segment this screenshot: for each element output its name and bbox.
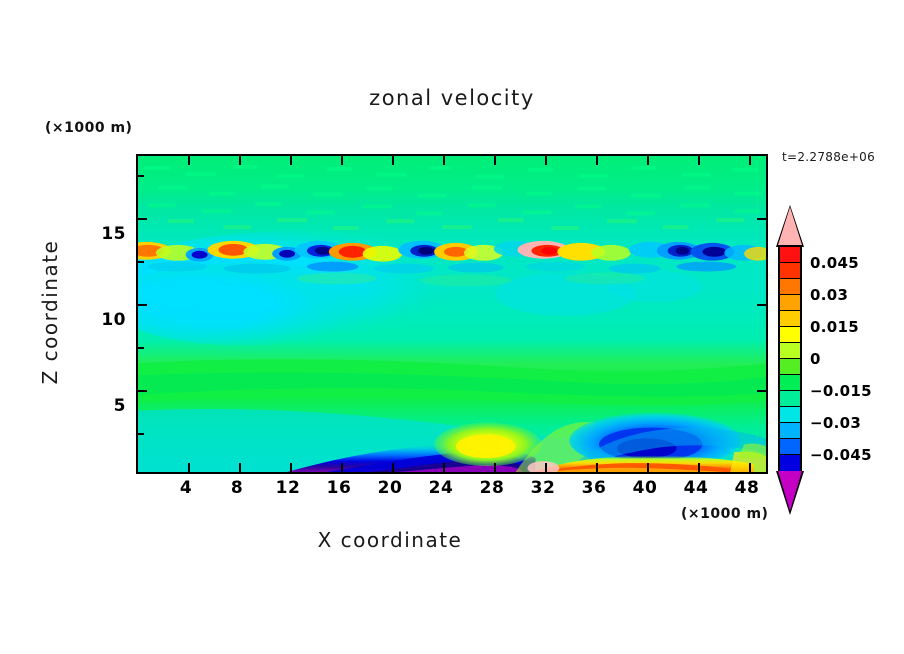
colorbar-segment xyxy=(780,423,800,439)
x-tick-top xyxy=(443,156,445,165)
x-axis-title: X coordinate xyxy=(0,528,780,552)
x-tick xyxy=(749,463,751,472)
colorbar-tick-label: 0.015 xyxy=(810,318,859,336)
colorbar-tick-label: −0.045 xyxy=(810,446,872,464)
x-tick-top xyxy=(392,156,394,165)
contour-plot-area[interactable] xyxy=(136,154,768,474)
colorbar-under-arrow xyxy=(778,471,802,511)
colorbar-segment xyxy=(780,295,800,311)
x-tick-label: 32 xyxy=(531,478,556,498)
zonal-velocity-field xyxy=(138,156,766,472)
y-tick-label: 5 xyxy=(92,396,126,416)
y-tick xyxy=(138,218,147,220)
page-title: zonal velocity xyxy=(0,86,904,110)
y-tick-minor xyxy=(138,261,144,263)
colorbar-segment xyxy=(780,375,800,391)
y-tick-right xyxy=(757,218,766,220)
colorbar-over-arrow xyxy=(778,207,802,245)
colorbar[interactable] xyxy=(778,245,802,473)
colorbar-tick-label: 0.045 xyxy=(810,254,859,272)
x-tick-top xyxy=(647,156,649,165)
x-tick-label: 28 xyxy=(480,478,505,498)
x-tick-top xyxy=(239,156,241,165)
colorbar-segment xyxy=(780,311,800,327)
colorbar-segment xyxy=(780,327,800,343)
x-tick xyxy=(392,463,394,472)
x-tick-label: 4 xyxy=(180,478,192,498)
x-axis-unit-label: (×1000 m) xyxy=(681,506,768,522)
colorbar-segment xyxy=(780,439,800,455)
x-tick-top xyxy=(341,156,343,165)
colorbar-segment xyxy=(780,279,800,295)
x-tick xyxy=(290,463,292,472)
colorbar-segment xyxy=(780,391,800,407)
x-tick-top xyxy=(545,156,547,165)
x-tick xyxy=(596,463,598,472)
x-tick-top xyxy=(749,156,751,165)
x-tick-label: 40 xyxy=(633,478,658,498)
x-tick xyxy=(545,463,547,472)
x-tick-label: 20 xyxy=(378,478,403,498)
x-tick-label: 24 xyxy=(429,478,454,498)
x-tick-label: 48 xyxy=(735,478,760,498)
x-tick-label: 44 xyxy=(684,478,709,498)
y-tick-label: 10 xyxy=(92,310,126,330)
colorbar-segment xyxy=(780,455,800,471)
y-tick-label: 15 xyxy=(92,224,126,244)
colorbar-segment xyxy=(780,359,800,375)
x-tick-top xyxy=(188,156,190,165)
y-tick xyxy=(138,304,147,306)
x-tick xyxy=(239,463,241,472)
x-tick-top xyxy=(290,156,292,165)
x-tick-top xyxy=(494,156,496,165)
y-tick-minor xyxy=(138,175,144,177)
y-tick-right xyxy=(757,304,766,306)
x-tick-label: 36 xyxy=(582,478,607,498)
colorbar-segment xyxy=(780,343,800,359)
x-tick-top xyxy=(596,156,598,165)
y-tick-right xyxy=(757,390,766,392)
colorbar-segment xyxy=(780,407,800,423)
colorbar-tick-label: −0.015 xyxy=(810,382,872,400)
x-tick-label: 8 xyxy=(231,478,243,498)
y-tick-minor xyxy=(138,347,144,349)
colorbar-segment xyxy=(780,263,800,279)
colorbar-segment xyxy=(780,247,800,263)
x-tick xyxy=(443,463,445,472)
x-tick xyxy=(188,463,190,472)
figure-canvas: zonal velocity (×1000 m) t=2.2788e+06 xyxy=(0,0,904,654)
x-tick xyxy=(698,463,700,472)
x-tick-label: 16 xyxy=(327,478,352,498)
x-tick-top xyxy=(698,156,700,165)
x-tick xyxy=(647,463,649,472)
colorbar-tick-label: 0.03 xyxy=(810,286,848,304)
x-tick xyxy=(494,463,496,472)
x-tick-label: 12 xyxy=(276,478,301,498)
y-axis-title: Z coordinate xyxy=(38,202,62,422)
y-tick xyxy=(138,390,147,392)
y-tick-minor xyxy=(138,433,144,435)
timestamp-annotation: t=2.2788e+06 xyxy=(782,150,875,164)
y-axis-unit-label: (×1000 m) xyxy=(45,120,132,136)
colorbar-tick-label: 0 xyxy=(810,350,821,368)
colorbar-tick-label: −0.03 xyxy=(810,414,861,432)
x-tick xyxy=(341,463,343,472)
